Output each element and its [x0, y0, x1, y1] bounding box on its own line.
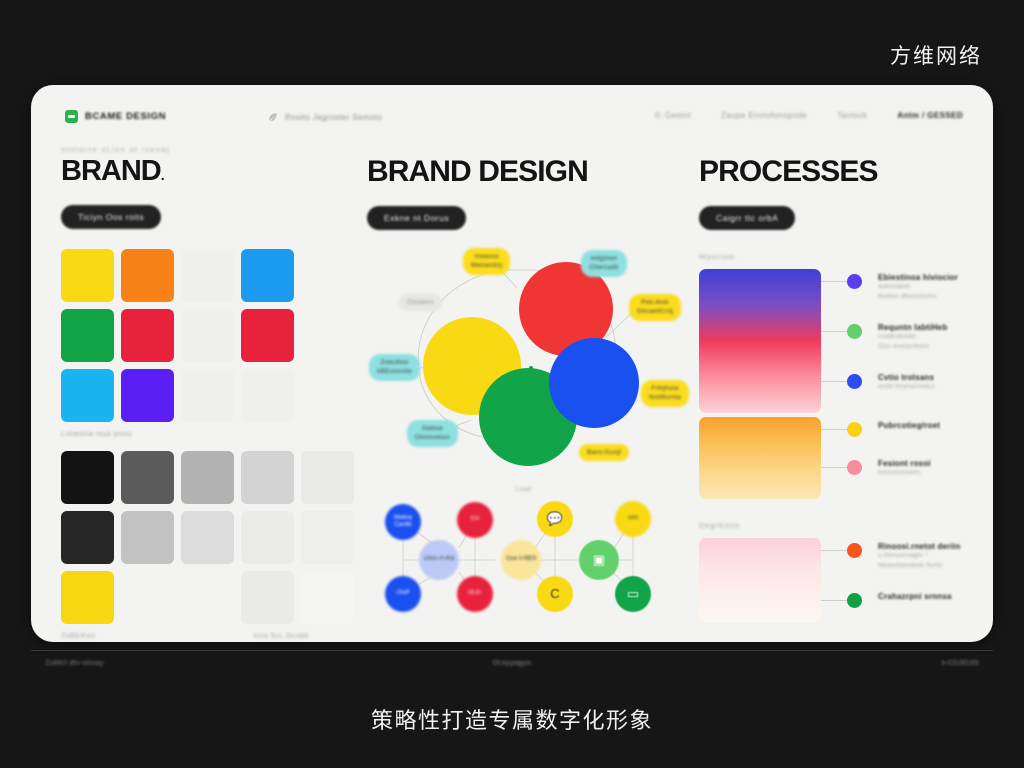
legend-a2: Pubrcotieg/roetFesiont rosoiecouosoownc, — [821, 417, 975, 499]
node-yellow-b1[interactable]: C — [537, 576, 573, 612]
leaf-icon — [267, 111, 279, 123]
footer-center: OUrjcjotgym — [493, 660, 532, 667]
legend-blue-dot-icon — [847, 374, 862, 389]
node-red-t1[interactable]: CU — [457, 502, 493, 538]
swatch-yellow[interactable] — [61, 249, 114, 302]
gradient-bar-a — [699, 269, 821, 413]
topbar-center-note: Rosito Jagroster Semoto — [267, 111, 382, 123]
gray-caption-left: Zo66/Ken — [61, 633, 95, 640]
nav-item-cta[interactable]: Antm / GESSED — [897, 111, 963, 120]
swatch-red-2[interactable] — [241, 309, 294, 362]
group-a2-row: Pubrcotieg/roetFesiont rosoiecouosoownc, — [699, 417, 975, 499]
legend-b: Rinoosi.rnetot deriinc-Honumsaghr * Itbi… — [821, 538, 975, 622]
slide-footer: Zo66/t dfv-ohnay OUrjcjotgym h-CDJIOJIS — [31, 650, 993, 676]
legend-yellow-dot-icon — [847, 422, 862, 437]
legend-orange-sub: c-Honumsaghr * Itbiavetanobcki ftorto — [878, 551, 960, 572]
gradient-bar-b — [699, 538, 821, 622]
footer-right: h-CDJIOJIS — [942, 660, 979, 667]
group-a-label: Wyociosi — [699, 252, 975, 261]
node-yellow-t2[interactable]: ooo — [615, 501, 651, 537]
watermark: 方维网络 — [890, 40, 982, 70]
legend-green2-title: Crahazrpni srnnsa — [878, 592, 952, 601]
gray-080[interactable] — [241, 571, 294, 624]
gray-700[interactable] — [121, 451, 174, 504]
legend-pink[interactable]: Fesiont rosoiecouosoownc, — [847, 459, 975, 478]
legend-violet-title: Ebiestinoa hiviocior — [878, 273, 958, 282]
legend-pink-sub: ecouosoownc, — [878, 468, 931, 478]
legend-pink-title: Fesiont rosoi — [878, 459, 931, 468]
legend-yellow-dot-wrap — [847, 421, 862, 437]
slide-stage: 方维网络 BCAME DESIGN Rosito Jagroster Semot… — [0, 0, 1024, 768]
legend-blue[interactable]: Cvtio trolsansorobi bnysarinntLo — [847, 373, 975, 392]
column-brand: ototorre xLivn ot ivenaj BRAND. Ticiyn O… — [61, 145, 349, 642]
gray-300[interactable] — [241, 451, 294, 504]
logo-mark-icon — [65, 110, 78, 123]
card-topbar: BCAME DESIGN Rosito Jagroster Semoto 0: … — [31, 85, 993, 133]
nav-item-1[interactable]: Zaupe Envtofonopode — [721, 111, 807, 120]
presentation-card: BCAME DESIGN Rosito Jagroster Semoto 0: … — [31, 85, 993, 642]
mm-label-top-left[interactable]: maassa Meinenitzj — [463, 248, 510, 275]
mm-label-cluster[interactable]: Clustens — [399, 294, 442, 311]
node-red-b1[interactable]: ULG- — [457, 576, 493, 612]
gray-100[interactable] — [301, 511, 354, 564]
legend-blue-title: Cvtio trolsans — [878, 373, 935, 382]
group-b-label: DegrKitito — [699, 521, 975, 530]
left-title-text: BRAND — [61, 155, 161, 187]
legend-yellow-text: Pubrcotieg/roet — [878, 421, 940, 430]
swatch-red[interactable] — [121, 309, 174, 362]
swatch-empty-3[interactable] — [181, 369, 234, 422]
column-processes: PROCESSES Caigrr ttc orbA Wyociosi Ebies… — [699, 145, 975, 642]
mm-label-bottom-left[interactable]: Alatiue Olxnnveiuo — [407, 420, 458, 447]
left-eyebrow: ototorre xLivn ot ivenaj — [61, 145, 349, 155]
legend-orange-dot-wrap — [847, 542, 862, 558]
gray-050b[interactable] — [181, 571, 234, 624]
circle-blue[interactable] — [549, 338, 639, 428]
legend-green[interactable]: Requntn labtiHebccaikisboobi Gtcr evetac… — [847, 323, 975, 353]
node-network-diagram: Loaat Meitna CanibtCU💬ooozAVn rf-rKdOue … — [367, 498, 679, 618]
legend-violet-sub: aoevoaeet Ibotion dbsiuctumo — [878, 282, 958, 303]
right-pill-button[interactable]: Caigrr ttc orbA — [699, 206, 795, 230]
footer-left: Zo66/t dfv-ohnay — [45, 660, 104, 667]
gray-swatch-grid — [61, 451, 349, 624]
brand-logo-label: BCAME DESIGN — [85, 111, 166, 122]
mm-label-right-upper[interactable]: Peb-ibotr DitnaefiCritj — [629, 294, 681, 321]
mm-label-top-right[interactable]: eetjphon Cherzadit — [581, 250, 627, 277]
legend-green-text: Requntn labtiHebccaikisboobi Gtcr evetac… — [878, 323, 947, 353]
legend-yellow-title: Pubrcotieg/roet — [878, 421, 940, 430]
node-blue-tl[interactable]: Meitna Canibt — [385, 504, 421, 540]
node-green-c[interactable]: ▣ — [579, 540, 619, 580]
column-brand-design: BRAND DESIGN Exkne nt Dorus maassa — [367, 145, 679, 642]
process-group-b: DegrKitito Rinoosi.rnetot deriinc-Honums… — [699, 521, 975, 622]
swatch-empty-4[interactable] — [241, 369, 294, 422]
gray-150[interactable] — [301, 451, 354, 504]
nav-item-0[interactable]: 0: Gestnt — [655, 111, 691, 120]
legend-green-dot-icon — [847, 324, 862, 339]
legend-violet-dot-wrap — [847, 273, 862, 289]
gradient-bar-a2 — [699, 417, 821, 499]
swatch-empty-2[interactable] — [181, 309, 234, 362]
gray-040[interactable] — [301, 571, 354, 624]
swatch-green[interactable] — [61, 309, 114, 362]
legend-pink-text: Fesiont rosoiecouosoownc, — [878, 459, 931, 478]
swatch-blue-bright[interactable] — [241, 249, 294, 302]
legend-green-dot-wrap — [847, 323, 862, 339]
mm-label-right-lower[interactable]: Frthjfune Noitifurnta — [641, 380, 689, 407]
center-pill-button[interactable]: Exkne nt Dorus — [367, 206, 466, 230]
legend-orange[interactable]: Rinoosi.rnetot deriinc-Honumsaghr * Itbi… — [847, 542, 975, 572]
legend-pink-dot-wrap — [847, 459, 862, 475]
left-title-period: . — [161, 167, 164, 183]
center-title: BRAND DESIGN — [367, 157, 679, 187]
legend-orange-text: Rinoosi.rnetot deriinc-Honumsaghr * Itbi… — [878, 542, 960, 572]
gray-caption-right: Inns 5cL.Dcsbb — [253, 633, 308, 640]
gray-850[interactable] — [61, 511, 114, 564]
legend-green-title: Requntn labtiHeb — [878, 323, 947, 332]
legend-blue-sub: orobi bnysarinntLo — [878, 382, 935, 392]
gray-900[interactable] — [61, 451, 114, 504]
gray-120[interactable] — [241, 511, 294, 564]
process-group-a: Wyociosi Ebiestinoa hiviocioraoevoaeet I… — [699, 252, 975, 413]
legend-pink-dot-icon — [847, 460, 862, 475]
legend-violet[interactable]: Ebiestinoa hiviocioraoevoaeet Ibotion db… — [847, 273, 975, 303]
legend-a: Ebiestinoa hiviocioraoevoaeet Ibotion db… — [821, 269, 975, 413]
legend-blue-dot-wrap — [847, 373, 862, 389]
node-cream-c[interactable]: Oue ii-f9E9 — [501, 540, 541, 580]
legend-violet-dot-icon — [847, 274, 862, 289]
process-group-a2: Pubrcotieg/roetFesiont rosoiecouosoownc, — [699, 417, 975, 499]
node-blue-bl[interactable]: rSuP — [385, 576, 421, 612]
legend-green2[interactable]: Crahazrpni srnnsa — [847, 592, 975, 608]
node-lavender-c[interactable]: zAVn rf-rKd — [419, 540, 459, 580]
left-pill-button[interactable]: Ticiyn Oos roits — [61, 205, 161, 229]
center-eyebrow-spacer — [367, 145, 679, 155]
gray-caption-row: Zo66/Ken Inns 5cL.Dcsbb — [61, 633, 349, 640]
node-green-br[interactable]: ▭ — [615, 576, 651, 612]
legend-orange-title: Rinoosi.rnetot deriin — [878, 542, 960, 551]
legend-green2-text: Crahazrpni srnnsa — [878, 592, 952, 601]
color-swatch-grid — [61, 249, 349, 422]
color-swatch-caption: Lislatona mud pintic — [61, 431, 349, 438]
network-caption: Loaat — [515, 486, 531, 493]
swatch-violet[interactable] — [121, 369, 174, 422]
legend-green2-dot-icon — [847, 593, 862, 608]
swatch-orange[interactable] — [121, 249, 174, 302]
legend-green-sub: ccaikisboobi Gtcr evetaciburo — [878, 332, 947, 353]
node-yellow-t1[interactable]: 💬 — [537, 501, 573, 537]
topbar-nav: 0: Gestnt Zaupe Envtofonopode Tanlock An… — [655, 111, 963, 120]
brand-logo[interactable]: BCAME DESIGN — [65, 110, 166, 123]
gray-050[interactable] — [121, 571, 174, 624]
group-a-row: Ebiestinoa hiviocioraoevoaeet Ibotion db… — [699, 269, 975, 413]
legend-yellow[interactable]: Pubrcotieg/roet — [847, 421, 975, 437]
group-b-row: Rinoosi.rnetot deriinc-Honumsaghr * Itbi… — [699, 538, 975, 622]
mm-label-bottom-right[interactable]: Bans:Gunjf — [579, 444, 629, 461]
right-eyebrow-spacer — [699, 145, 975, 155]
topbar-center-label: Rosito Jagroster Semoto — [285, 113, 382, 122]
legend-orange-dot-icon — [847, 543, 862, 558]
accent-yellow[interactable] — [61, 571, 114, 624]
mindmap-diagram: maassa Meinenitzjeetjphon CherzaditClust… — [367, 244, 679, 476]
nav-item-2[interactable]: Tanlock — [837, 111, 867, 120]
swatch-cyan[interactable] — [61, 369, 114, 422]
gray-250[interactable] — [181, 511, 234, 564]
legend-blue-text: Cvtio trolsansorobi bnysarinntLo — [878, 373, 935, 392]
left-title: BRAND. — [61, 157, 349, 186]
gray-450[interactable] — [121, 511, 174, 564]
mm-label-left[interactable]: Zoecifooi kBEvnnnite — [369, 354, 420, 381]
legend-violet-text: Ebiestinoa hiviocioraoevoaeet Ibotion db… — [878, 273, 958, 303]
slide-subtitle: 策略性打造专属数字化形象 — [0, 703, 1024, 735]
swatch-empty-1[interactable] — [181, 249, 234, 302]
right-title: PROCESSES — [699, 157, 975, 187]
legend-green2-dot-wrap — [847, 592, 862, 608]
gray-500[interactable] — [181, 451, 234, 504]
